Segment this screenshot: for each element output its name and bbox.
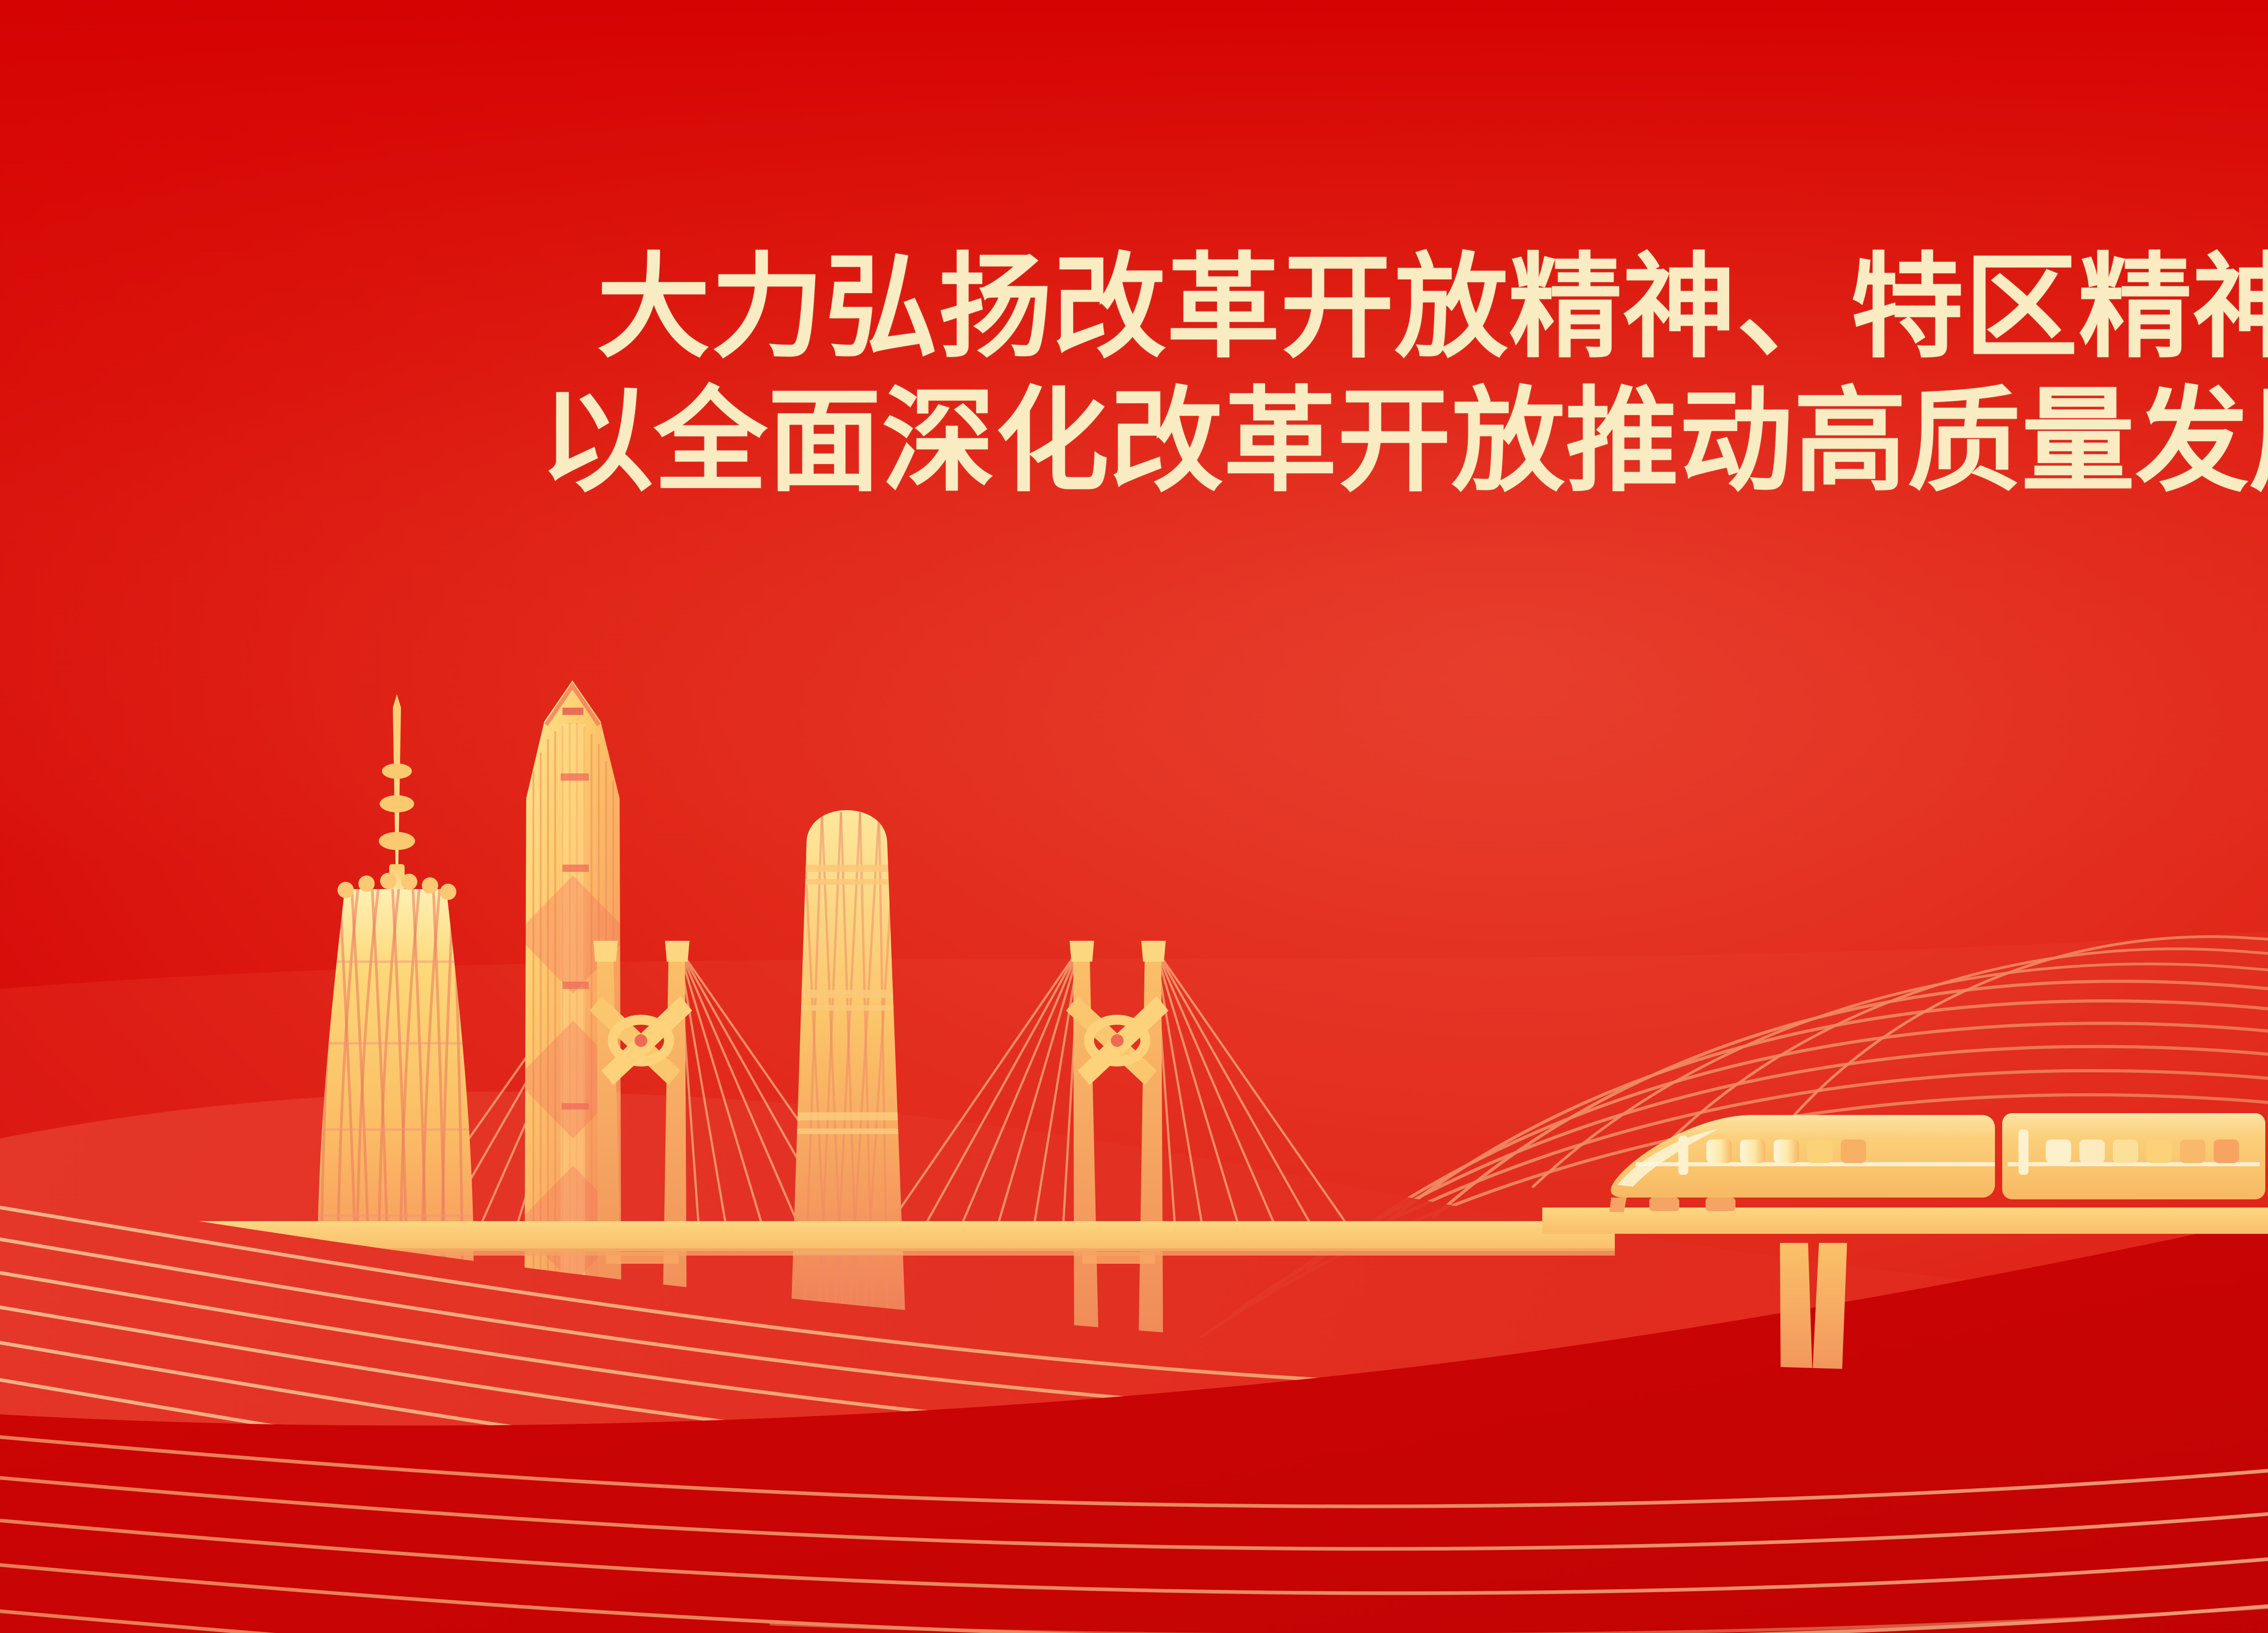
skyline-illustration (0, 0, 2268, 1633)
viaduct-girder (1542, 1208, 2268, 1234)
bridge-cable-fan-right (889, 948, 1347, 1225)
landmark-ctf-finance-centre (772, 810, 924, 1356)
viaduct-piers (1780, 1243, 1847, 1406)
high-speed-rail (1542, 1113, 2268, 1406)
bridge-deck (172, 1221, 1615, 1256)
train-high-speed (1609, 1113, 2268, 1212)
landmark-bridge-tower-right (1066, 941, 1168, 1343)
landmark-bridge-tower-left (590, 941, 692, 1343)
train-car-2 (2002, 1113, 2265, 1199)
canton-tower-antenna (379, 694, 415, 890)
poster-canvas: 大力弘扬改革开放精神、特区精神 以全面深化改革开放推动高质量发展 (0, 0, 2268, 1633)
